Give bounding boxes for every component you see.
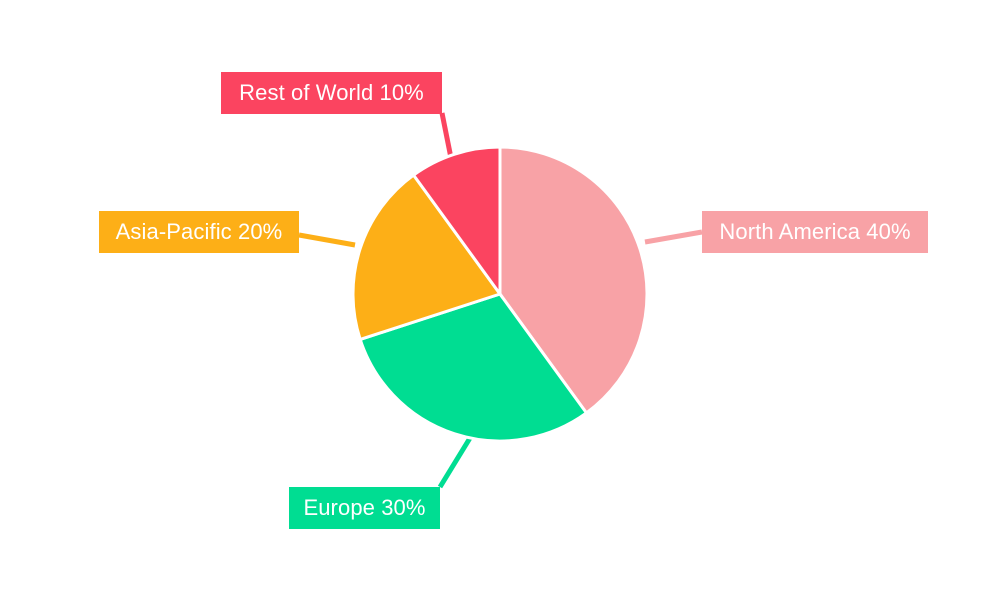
pie-label-europe: Europe 30% [289,487,440,529]
pie-chart-figure: North America 40% Europe 30% Asia-Pacifi… [0,0,1000,600]
pie-label-rest-of-world: Rest of World 10% [221,72,442,114]
leader-line-north-america [645,232,702,242]
pie-label-north-america: North America 40% [702,211,928,253]
pie-label-text: Europe 30% [303,497,425,519]
pie-label-text: Rest of World 10% [239,82,424,104]
pie-label-text: North America 40% [719,221,910,243]
leader-line-asia-pacific [299,235,355,245]
pie-chart-canvas [0,0,1000,600]
pie-label-asia-pacific: Asia-Pacific 20% [99,211,299,253]
leader-line-europe [440,438,470,487]
pie-label-text: Asia-Pacific 20% [116,221,283,243]
